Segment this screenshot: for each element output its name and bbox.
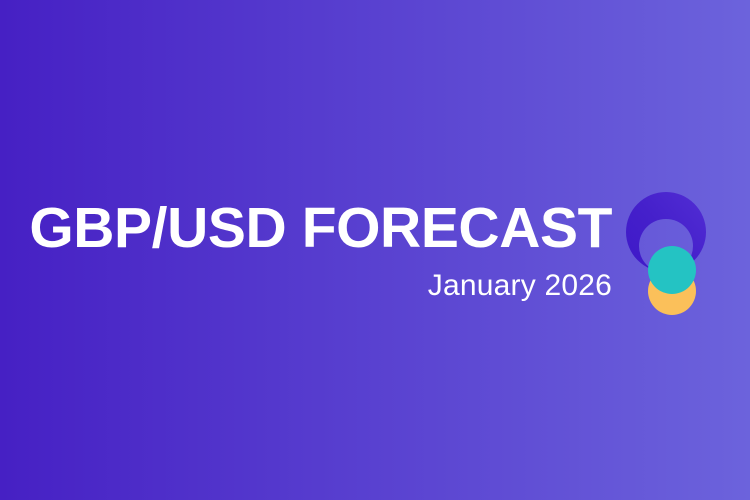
page-subtitle: January 2026 <box>428 271 612 301</box>
circle-top-teal <box>648 246 696 294</box>
forecast-banner: GBP/USD FORECAST January 2026 <box>0 0 750 500</box>
brand-logo <box>620 192 720 310</box>
title-block: GBP/USD FORECAST January 2026 <box>0 0 612 500</box>
brand-logo-icon <box>620 192 720 310</box>
page-title: GBP/USD FORECAST <box>29 199 612 257</box>
